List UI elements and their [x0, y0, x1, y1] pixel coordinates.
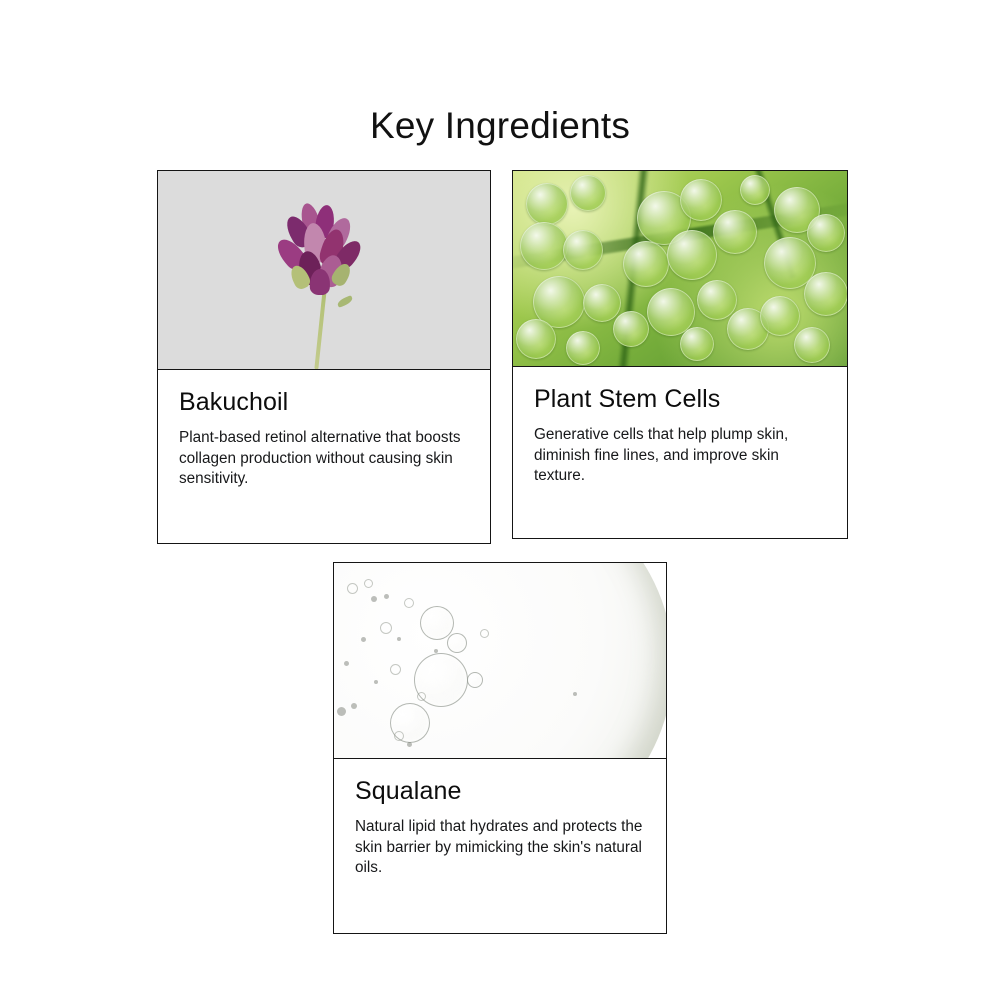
plant-stem-cells-image [513, 171, 847, 367]
plant-cell-vacuole [697, 280, 737, 320]
plant-cell-vacuole [566, 331, 600, 365]
bakuchoil-card-body: Bakuchoil Plant-based retinol alternativ… [158, 370, 490, 490]
ingredients-page: Key Ingredients Bakuchoil [0, 0, 1000, 1000]
plant-cell-vacuole [760, 296, 800, 336]
plant-cell-vacuole [583, 284, 621, 322]
plant-cell-vacuole [570, 175, 606, 211]
gel-bubble [447, 633, 467, 653]
plant-cell-vacuole [807, 214, 845, 252]
plant-cell-vacuole [740, 175, 770, 205]
card-title-squalane: Squalane [355, 775, 645, 807]
plant-stem-cells-card-body: Plant Stem Cells Generative cells that h… [513, 367, 847, 487]
flower-head-shape [268, 203, 376, 307]
card-title-bakuchoil: Bakuchoil [179, 386, 469, 418]
plant-cell-vacuole [613, 311, 649, 347]
gel-speck [344, 661, 349, 666]
card-description-plant-stem-cells: Generative cells that help plump skin, d… [534, 425, 826, 487]
gel-speck [573, 692, 577, 696]
squalane-card-body: Squalane Natural lipid that hydrates and… [334, 759, 666, 879]
plant-cell-vacuole [713, 210, 757, 254]
gel-microbubble [364, 579, 373, 588]
plant-cell-vacuole [623, 241, 669, 287]
gel-microbubble [404, 598, 414, 608]
gel-speck [371, 596, 377, 602]
plant-cell-vacuole [667, 230, 717, 280]
gel-droplet-shape [334, 563, 666, 759]
plant-cell-vacuole [804, 272, 847, 316]
plant-cell-vacuole [563, 230, 603, 270]
plant-cell-vacuole [794, 327, 830, 363]
gel-speck [361, 637, 366, 642]
ingredient-card-plant-stem-cells[interactable]: Plant Stem Cells Generative cells that h… [512, 170, 848, 539]
card-description-bakuchoil: Plant-based retinol alternative that boo… [179, 428, 469, 490]
card-title-plant-stem-cells: Plant Stem Cells [534, 383, 826, 415]
plant-cell-vacuole [680, 327, 714, 361]
plant-cell-vacuole [520, 222, 568, 270]
gel-microbubble [347, 583, 358, 594]
ingredient-card-bakuchoil[interactable]: Bakuchoil Plant-based retinol alternativ… [157, 170, 491, 544]
gel-microbubble [394, 731, 404, 741]
plant-cell-vacuole [516, 319, 556, 359]
card-description-squalane: Natural lipid that hydrates and protects… [355, 817, 645, 879]
bakuchoil-image [158, 171, 490, 370]
page-title: Key Ingredients [0, 103, 1000, 149]
ingredient-card-squalane[interactable]: Squalane Natural lipid that hydrates and… [333, 562, 667, 934]
gel-bubble [467, 672, 483, 688]
plant-cell-vacuole [680, 179, 722, 221]
gel-microbubble [380, 622, 392, 634]
gel-speck [384, 594, 389, 599]
squalane-image [334, 563, 666, 759]
plant-cell-vacuole [526, 183, 568, 225]
gel-speck [434, 649, 438, 653]
gel-microbubble [417, 692, 426, 701]
gel-speck [374, 680, 378, 684]
